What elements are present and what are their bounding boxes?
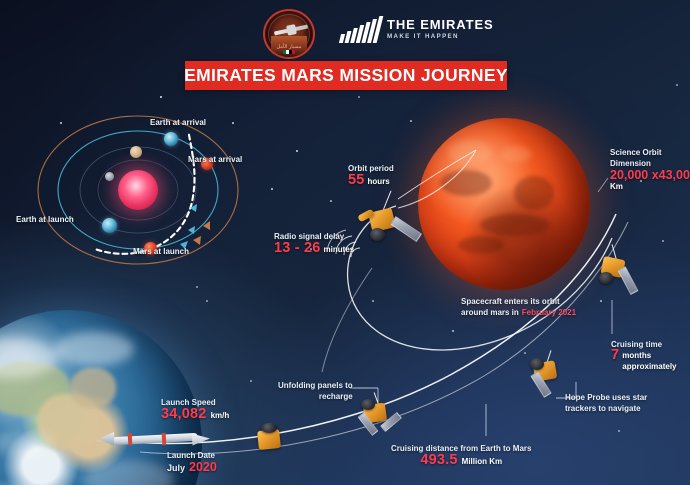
earth-at-arrival-marker xyxy=(164,132,178,146)
science-orbit-unit: Km xyxy=(610,181,690,192)
mars-planet xyxy=(418,118,590,290)
annotation-science-orbit: Science Orbit Dimension 20,000 x43,000 K… xyxy=(610,147,690,192)
earth-at-launch-marker xyxy=(102,218,117,233)
launch-date-month: July xyxy=(167,463,185,474)
hope-probe-panel-deploy xyxy=(352,394,410,448)
sun-icon xyxy=(118,170,158,210)
science-orbit-value: 20,000 x43,000 xyxy=(610,170,690,181)
cruising-distance-unit: Million Km xyxy=(462,456,502,467)
orbit-period-value: 55 xyxy=(348,175,365,186)
hope-probe-orbiting xyxy=(356,196,426,262)
cruising-time-label: Cruising time xyxy=(611,339,677,350)
hope-probe-mars-approach xyxy=(594,248,650,304)
venus-marker xyxy=(130,146,142,158)
annotation-unfolding-panels: Unfolding panels to recharge xyxy=(278,380,353,402)
orbit-period-unit: hours xyxy=(368,176,390,187)
annotation-star-trackers: Hope Probe uses star trackers to navigat… xyxy=(565,392,647,414)
launch-speed-unit: km/h xyxy=(211,410,230,421)
orbit-insertion-line1: Spacecraft enters its orbit xyxy=(461,296,576,307)
annotation-cruising-time: Cruising time 7 months approximately xyxy=(611,339,677,372)
solar-system-diagram: Earth at arrival Mars at arrival Earth a… xyxy=(30,110,250,270)
cruising-distance-label: Cruising distance from Earth to Mars xyxy=(391,443,531,454)
label-mars-at-launch: Mars at launch xyxy=(133,247,189,256)
radio-delay-unit: minutes xyxy=(324,244,355,255)
unfolding-panels-line1: Unfolding panels to xyxy=(278,380,353,391)
hope-probe-post-launch xyxy=(252,420,292,460)
radio-delay-value: 13 - 26 xyxy=(274,243,321,254)
launch-date-year: 2020 xyxy=(189,462,217,473)
the-emirates-logo: THE EMIRATES MAKE IT HAPPEN xyxy=(340,12,494,48)
annotation-launch-speed: Launch Speed 34,082 km/h xyxy=(161,397,229,421)
emirates-bars-icon xyxy=(340,17,380,43)
cruising-time-unit1: months xyxy=(622,350,676,361)
annotation-orbit-insertion: Spacecraft enters its orbit around mars … xyxy=(461,296,576,318)
science-orbit-line1: Science Orbit xyxy=(610,147,690,158)
orbit-insertion-line2-prefix: around mars in xyxy=(461,307,519,318)
star-trackers-line1: Hope Probe uses star xyxy=(565,392,647,403)
emirates-mars-mission-emblem-icon: مسبار الأمل xyxy=(263,9,315,59)
emirates-logo-line1: THE EMIRATES xyxy=(387,18,494,32)
page-title: EMIRATES MARS MISSION JOURNEY xyxy=(184,65,508,86)
annotation-orbit-period: Orbit period 55 hours xyxy=(348,163,394,187)
star-trackers-line2: trackers to navigate xyxy=(565,403,647,414)
annotation-cruising-distance: Cruising distance from Earth to Mars 493… xyxy=(391,443,531,467)
label-earth-at-arrival: Earth at arrival xyxy=(150,118,206,127)
emirates-logo-line2: MAKE IT HAPPEN xyxy=(387,32,494,42)
annotation-launch-date: Launch Date July 2020 xyxy=(167,450,217,474)
label-earth-at-launch: Earth at launch xyxy=(16,215,74,224)
page-title-banner: EMIRATES MARS MISSION JOURNEY xyxy=(185,61,507,90)
uae-flag-icon xyxy=(283,50,295,54)
orbit-insertion-date: February 2021 xyxy=(522,307,576,318)
cruising-distance-value: 493.5 xyxy=(420,455,457,466)
launch-speed-value: 34,082 xyxy=(161,409,207,420)
infographic-canvas: مسبار الأمل THE EMIRATES MAKE IT HAPPEN … xyxy=(0,0,690,485)
cruising-time-value: 7 xyxy=(611,350,619,361)
unfolding-panels-line2: recharge xyxy=(278,391,353,402)
label-mars-at-arrival: Mars at arrival xyxy=(188,155,242,164)
launch-rocket xyxy=(104,428,220,450)
cruising-time-unit2: approximately xyxy=(622,361,676,372)
annotation-radio-delay: Radio signal delay 13 - 26 minutes xyxy=(274,231,354,255)
mercury-marker xyxy=(105,172,114,181)
